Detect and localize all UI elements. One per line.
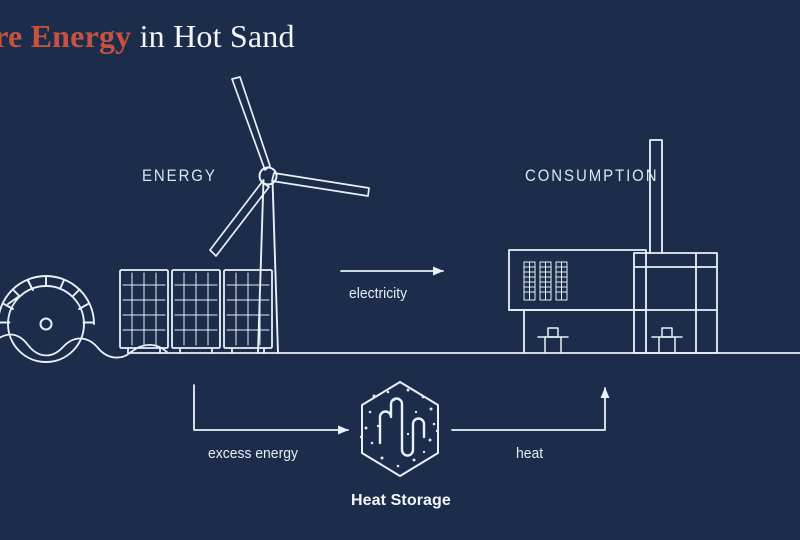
diagram-drawing [0,0,800,540]
heat-storage-label: Heat Storage [351,492,451,510]
heat-label: heat [516,445,543,462]
wind-turbine-icon [210,77,369,353]
solar-panels-icon [120,270,272,353]
energy-label: ENERGY [142,166,217,186]
excess-energy-arrow [194,385,348,430]
excess-energy-label: excess energy [208,445,298,462]
infographic-canvas: ore Energy in Hot Sand [0,0,800,540]
electricity-label: electricity [349,285,407,302]
water-wheel-icon [0,276,94,372]
consumption-label: CONSUMPTION [525,166,658,186]
heat-arrow [452,388,605,430]
